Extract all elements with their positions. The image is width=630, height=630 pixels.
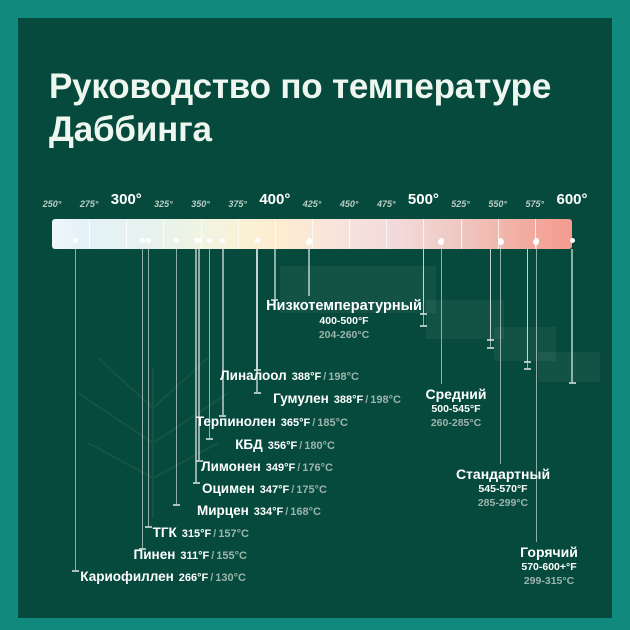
leaf-watermark-icon: [38, 348, 268, 528]
infographic-frame: Руководство по температуре Даббинга 250°…: [0, 0, 630, 630]
content-panel: Руководство по температуре Даббинга: [18, 18, 612, 618]
page-title: Руководство по температуре Даббинга: [49, 65, 609, 152]
